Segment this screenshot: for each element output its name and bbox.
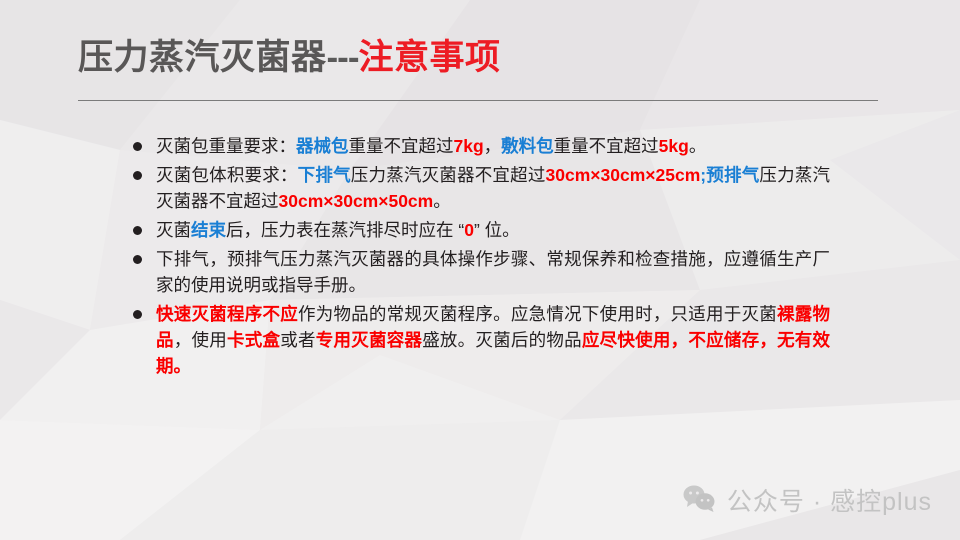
bullet-weight-requirement: 灭菌包重量要求：器械包重量不宜超过7kg，敷料包重量不宜超过5kg。 <box>130 133 830 159</box>
bullet-text-run: 灭菌 <box>156 220 191 240</box>
bullet-text-run: 后，压力表在蒸汽排尽时应在 “ <box>226 220 464 240</box>
bullet-text-run: ” 位。 <box>474 220 520 240</box>
bullet-text-run: 下排气 <box>298 165 351 185</box>
bullet-text-run: 30cm×30cm×25cm <box>546 165 701 185</box>
bullet-text-run: 压力蒸汽灭菌器不宜超过 <box>351 165 546 185</box>
bullet-marker-icon <box>133 310 142 319</box>
slide-canvas: 压力蒸汽灭菌器---注意事项 灭菌包重量要求：器械包重量不宜超过7kg，敷料包重… <box>0 0 960 540</box>
bullet-text-run: 敷料包 <box>501 136 554 156</box>
bullet-operation-procedures: 下排气，预排气压力蒸汽灭菌器的具体操作步骤、常规保养和检查措施，应遵循生产厂家的… <box>130 246 830 298</box>
wechat-icon <box>683 484 717 517</box>
bullet-text-run: 。 <box>433 191 451 211</box>
bullet-text-run: 灭菌包体积要求： <box>156 165 298 185</box>
bullet-text-run: 5kg <box>659 136 689 156</box>
watermark: 公众号 · 感控plus <box>683 482 932 518</box>
bullet-text-run: 灭菌包重量要求： <box>156 136 296 156</box>
bullet-marker-icon <box>133 255 142 264</box>
bullet-flash-sterilization-warning: 快速灭菌程序不应作为物品的常规灭菌程序。应急情况下使用时，只适用于灭菌裸露物品，… <box>130 301 830 379</box>
bullet-volume-requirement: 灭菌包体积要求：下排气压力蒸汽灭菌器不宜超过30cm×30cm×25cm;预排气… <box>130 162 830 214</box>
notes-bullet-list: 灭菌包重量要求：器械包重量不宜超过7kg，敷料包重量不宜超过5kg。灭菌包体积要… <box>130 133 830 382</box>
bullet-marker-icon <box>133 171 142 180</box>
bullet-text-run: 30cm×30cm×50cm <box>279 191 434 211</box>
bullet-text-run: ，使用 <box>174 330 227 350</box>
page-title: 压力蒸汽灭菌器---注意事项 <box>78 36 898 80</box>
bullet-marker-icon <box>133 142 142 151</box>
bullet-text-run: 盛放。灭菌后的物品 <box>422 330 582 350</box>
bullet-text-run: ;预排气 <box>700 165 759 185</box>
bullet-text-run: 器械包 <box>296 136 349 156</box>
bullet-text-run: 或者 <box>280 330 316 350</box>
bullet-text-run: ， <box>484 136 502 156</box>
page-title-main: 压力蒸汽灭菌器 <box>78 38 327 77</box>
bullet-text-run: 7kg <box>454 136 484 156</box>
bullet-text-run: 重量不宜超过 <box>349 136 454 156</box>
bullet-text-run: 卡式盒 <box>227 330 280 350</box>
bullet-marker-icon <box>133 226 142 235</box>
bullet-text-run: 结束 <box>191 220 226 240</box>
page-title-accent: 注意事项 <box>358 38 500 77</box>
bullet-text-run: 作为物品的常规灭菌程序。应急情况下使用时，只适用于灭菌 <box>298 304 777 324</box>
bullet-pressure-gauge-zero: 灭菌结束后，压力表在蒸汽排尽时应在 “0” 位。 <box>130 217 830 243</box>
bullet-text-run: 。 <box>689 136 707 156</box>
title-divider <box>78 100 878 101</box>
bullet-text-run: 下排气，预排气压力蒸汽灭菌器的具体操作步骤、常规保养和检查措施，应遵循生产厂家的… <box>156 249 830 295</box>
bullet-text-run: 重量不宜超过 <box>554 136 659 156</box>
bullet-text-run: 0 <box>464 220 474 240</box>
bullet-text-run: 专用灭菌容器 <box>316 330 422 350</box>
watermark-text: 公众号 · 感控plus <box>727 482 932 518</box>
bullet-text-run: 快速灭菌程序不应 <box>156 304 298 324</box>
page-title-separator: --- <box>327 38 359 77</box>
